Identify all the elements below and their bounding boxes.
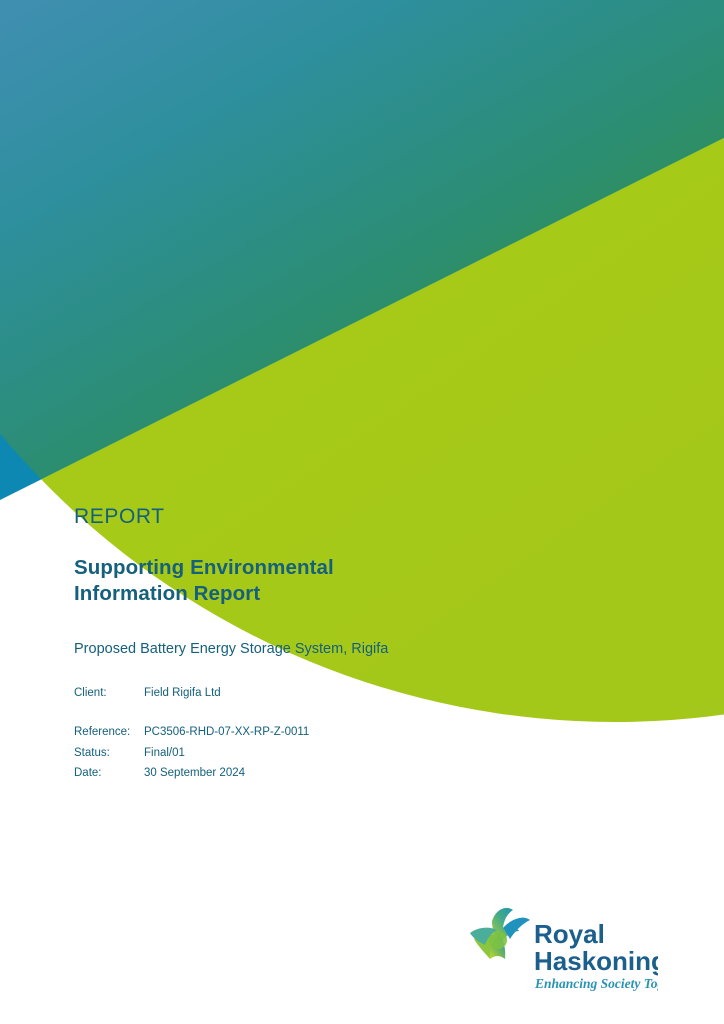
metadata-row-status: Status: Final/01 [74, 748, 634, 760]
document-metadata: Client: Field Rigifa Ltd Reference: PC35… [74, 688, 634, 780]
logo-name-line-2: HaskoningDHV [534, 946, 658, 976]
metadata-row-reference: Reference: PC3506-RHD-07-XX-RP-Z-0011 [74, 727, 634, 739]
report-cover-page: REPORT Supporting Environmental Informat… [0, 0, 724, 1024]
metadata-value-reference: PC3506-RHD-07-XX-RP-Z-0011 [144, 727, 634, 739]
cover-text-block: REPORT Supporting Environmental Informat… [74, 505, 634, 789]
logo-name-line-1: Royal [534, 919, 605, 949]
metadata-value-client: Field Rigifa Ltd [144, 688, 634, 700]
star-icon [470, 908, 530, 959]
metadata-row-date: Date: 30 September 2024 [74, 768, 634, 780]
company-logo: Royal HaskoningDHV Enhancing Society Tog… [462, 903, 658, 995]
metadata-label-client: Client: [74, 688, 144, 700]
page-title: Supporting Environmental Information Rep… [74, 555, 404, 606]
metadata-label-status: Status: [74, 748, 144, 760]
metadata-value-date: 30 September 2024 [144, 768, 634, 780]
metadata-label-reference: Reference: [74, 727, 144, 739]
logo-tagline: Enhancing Society Together [534, 976, 658, 991]
project-subtitle: Proposed Battery Energy Storage System, … [74, 640, 634, 659]
blue-field [0, 0, 724, 520]
metadata-label-date: Date: [74, 768, 144, 780]
page-title-line-2: Information Report [74, 581, 404, 606]
metadata-row-client: Client: Field Rigifa Ltd [74, 688, 634, 700]
metadata-value-status: Final/01 [144, 748, 634, 760]
teal-disc [0, 0, 724, 520]
page-title-line-1: Supporting Environmental [74, 555, 404, 580]
report-kicker: REPORT [74, 505, 634, 528]
